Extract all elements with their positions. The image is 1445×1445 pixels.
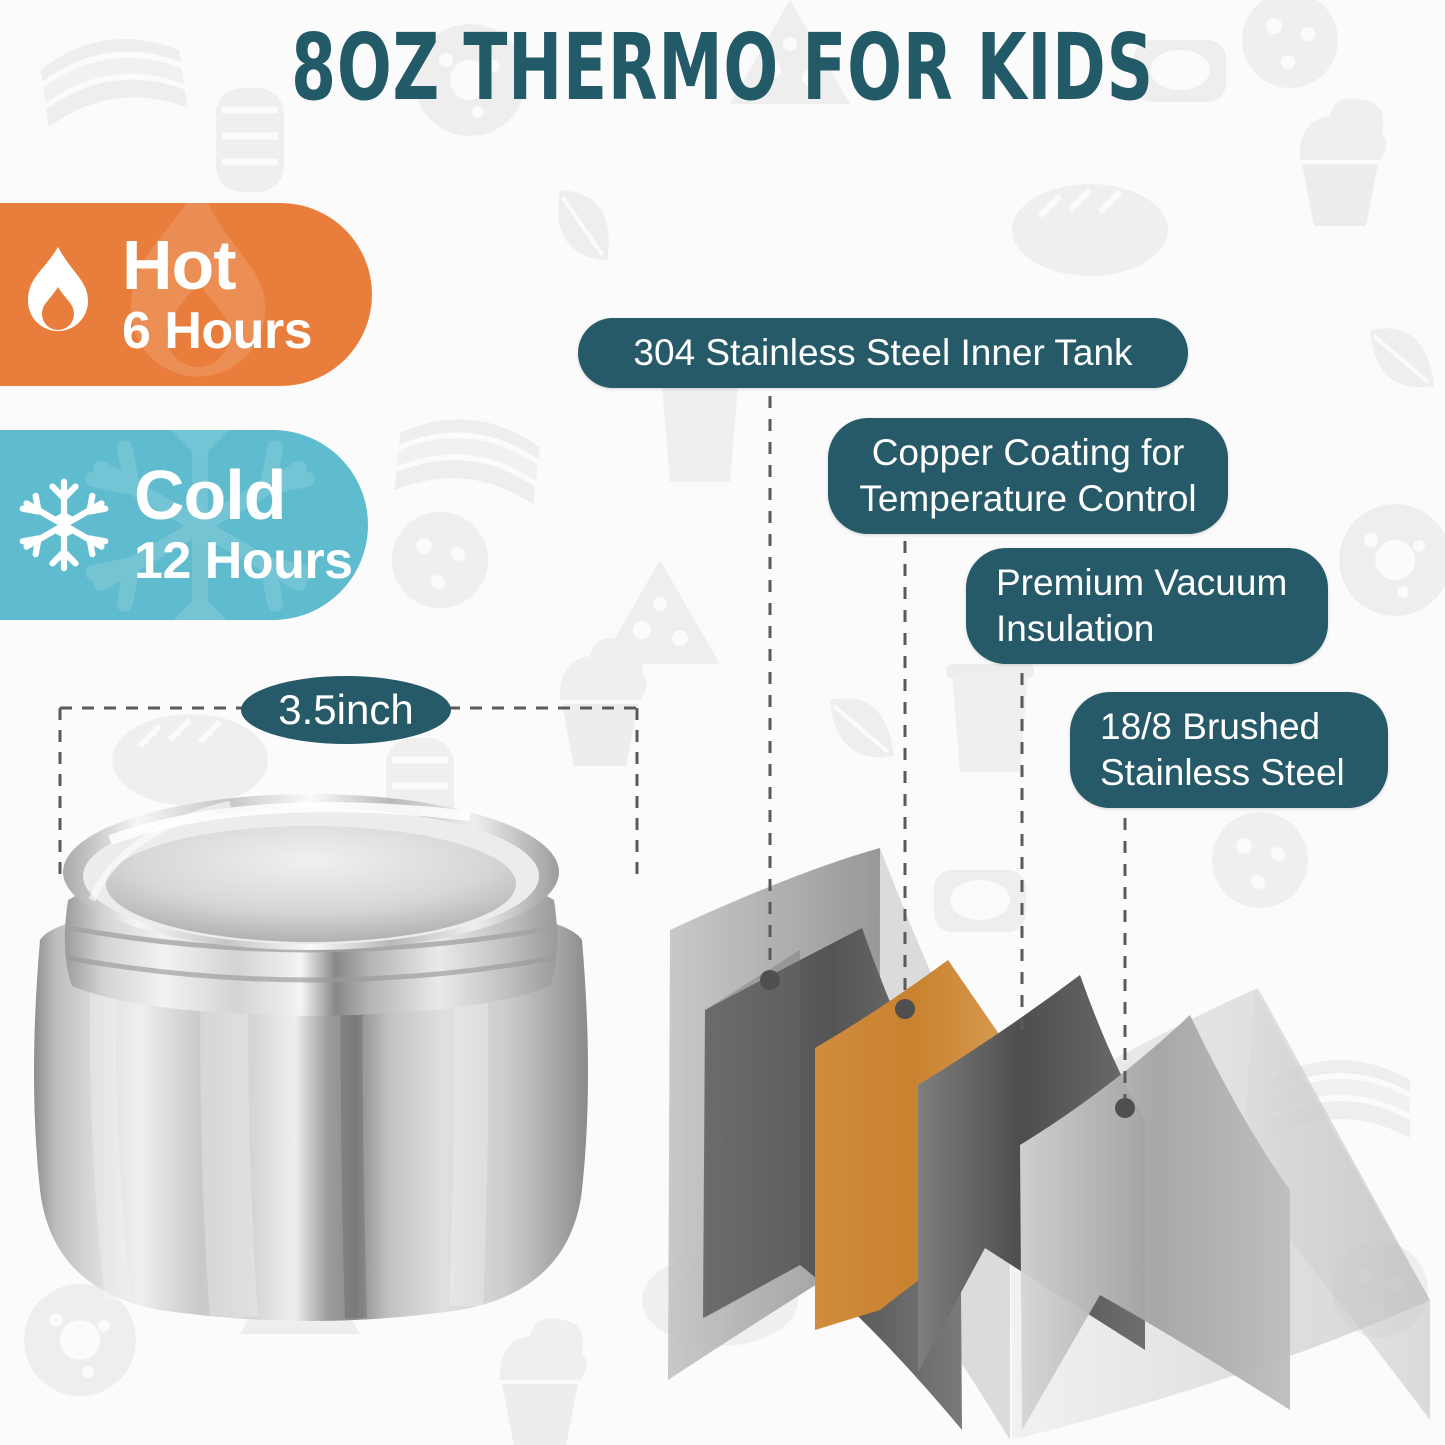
badge-cold-title: Cold — [134, 460, 353, 530]
dimension-label-width: 3.5inch — [241, 676, 451, 744]
infographic-canvas: 8OZ THERMO FOR KIDS — [0, 0, 1445, 1445]
badge-hot-title: Hot — [122, 230, 312, 300]
callout-brushed-steel: 18/8 Brushed Stainless Steel — [1070, 692, 1388, 808]
callout-vacuum-insulation: Premium Vacuum Insulation — [966, 548, 1328, 664]
thermos-jar — [34, 794, 588, 1321]
badge-cold-text: Cold 12 Hours — [134, 460, 353, 590]
material-layer-stack — [668, 848, 1430, 1440]
badge-cold: Cold 12 Hours — [0, 430, 368, 620]
badge-hot-text: Hot 6 Hours — [122, 230, 312, 360]
layer-inner-tank-front — [705, 950, 800, 1318]
badge-hot-duration: 6 Hours — [122, 302, 312, 360]
jar-inner-cavity — [106, 826, 516, 942]
flame-icon — [16, 245, 100, 345]
badge-hot: Hot 6 Hours — [0, 203, 372, 386]
snowflake-icon — [16, 477, 112, 573]
badge-cold-duration: 12 Hours — [134, 532, 353, 590]
page-title: 8OZ THERMO FOR KIDS — [159, 16, 1286, 120]
callout-copper-coating: Copper Coating for Temperature Control — [828, 418, 1228, 534]
callout-inner-tank: 304 Stainless Steel Inner Tank — [578, 318, 1188, 388]
